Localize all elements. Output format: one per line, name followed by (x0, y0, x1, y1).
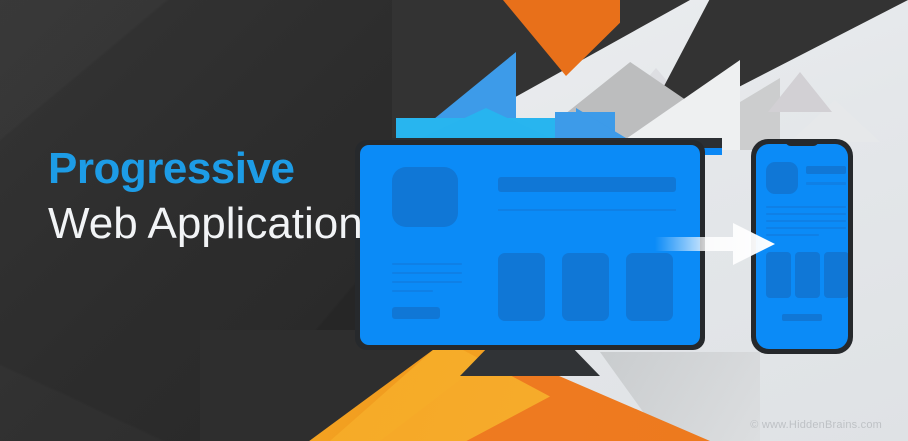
desktop-card-2[interactable] (562, 253, 609, 321)
headline-line-2: Web Application (48, 196, 363, 251)
desktop-text-line (392, 290, 433, 292)
desktop-text-line (392, 272, 462, 274)
watermark-credit: © www.HiddenBrains.com (750, 419, 882, 431)
mobile-footer-bar (782, 314, 822, 321)
mobile-text-line (766, 213, 846, 215)
desktop-mockup (355, 140, 705, 350)
headline: Progressive Web Application (48, 146, 363, 251)
monitor-frame (355, 140, 705, 350)
mobile-avatar-block (766, 162, 798, 194)
desktop-cta-button[interactable] (392, 307, 440, 319)
desktop-avatar-block (392, 167, 458, 227)
desktop-paragraph-lines (392, 263, 462, 299)
mobile-text-line (766, 220, 846, 222)
mobile-card-3[interactable] (824, 252, 848, 298)
monitor-screen[interactable] (360, 145, 700, 345)
transition-arrow-icon (655, 222, 775, 266)
mobile-title-bar (806, 166, 846, 174)
mobile-subtitle-bar (806, 182, 846, 185)
desktop-header-rule (498, 209, 676, 211)
desktop-card-1[interactable] (498, 253, 545, 321)
phone-notch (785, 139, 819, 146)
desktop-text-line (392, 281, 462, 283)
pwa-banner: Progressive Web Application © www.Hidden… (0, 0, 908, 441)
mobile-text-line (766, 206, 846, 208)
desktop-header-bar (498, 177, 676, 192)
desktop-text-line (392, 263, 462, 265)
mobile-card-2[interactable] (795, 252, 820, 298)
mobile-paragraph-lines (766, 206, 846, 241)
mobile-text-line (766, 227, 846, 229)
headline-line-1: Progressive (48, 146, 363, 192)
